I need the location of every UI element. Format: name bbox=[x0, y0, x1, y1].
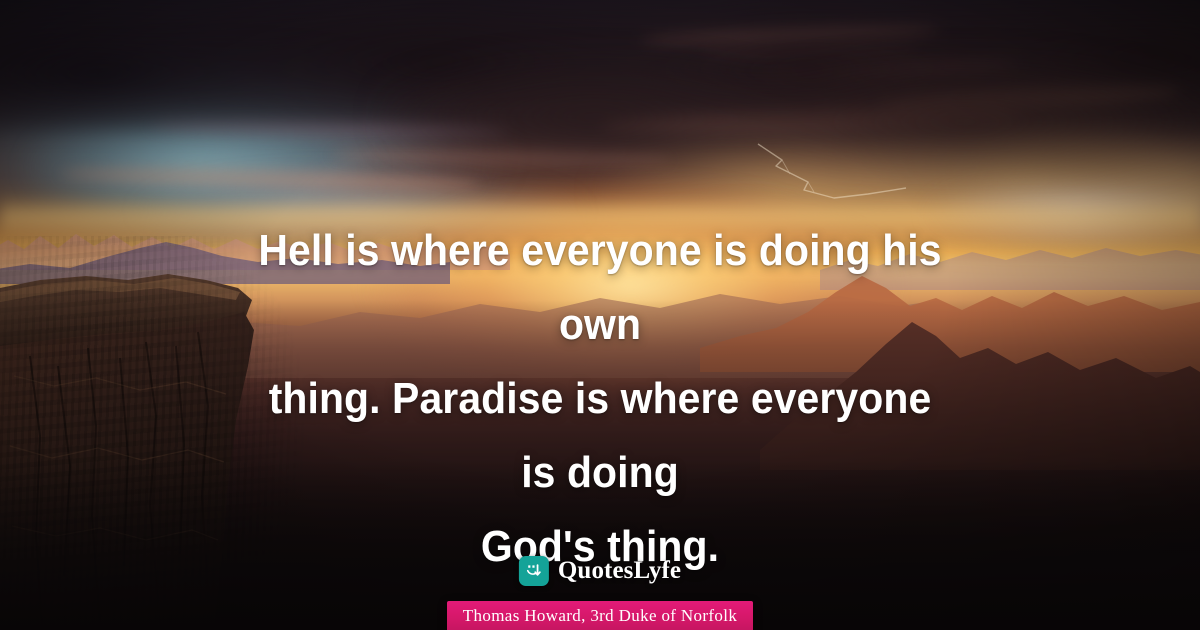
quoteslyfe-mark-icon bbox=[519, 556, 549, 586]
quote-text: Hell is where everyone is doing his own … bbox=[247, 214, 954, 584]
quote-smiley-icon bbox=[524, 561, 544, 581]
quote-card: Hell is where everyone is doing his own … bbox=[0, 0, 1200, 630]
quoteslyfe-logo[interactable]: QuotesLyfe bbox=[519, 556, 681, 586]
author-attribution-badge: Thomas Howard, 3rd Duke of Norfolk bbox=[447, 601, 753, 630]
quoteslyfe-wordmark: QuotesLyfe bbox=[558, 557, 681, 585]
